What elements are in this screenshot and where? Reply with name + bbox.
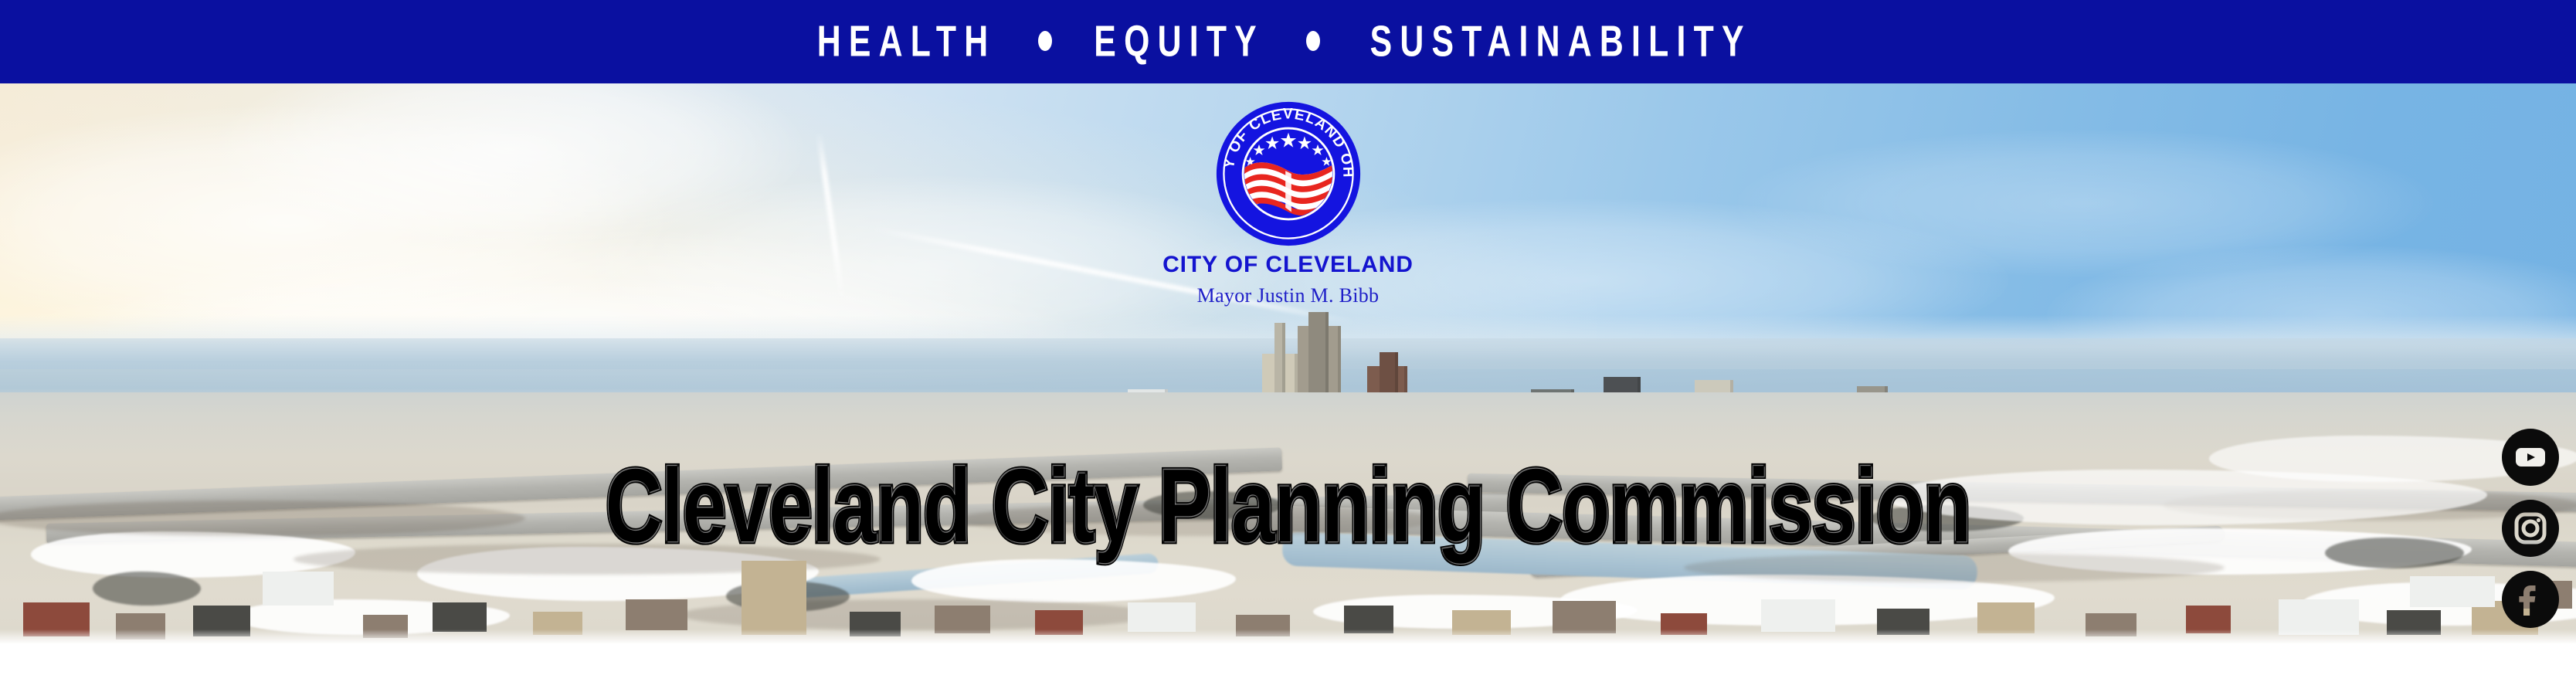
church [742, 561, 806, 635]
bullet-dot-icon [1038, 31, 1052, 51]
building-shadow [93, 572, 201, 606]
rooftop [433, 602, 487, 632]
instagram-icon[interactable] [2502, 500, 2559, 557]
youtube-icon[interactable] [2502, 429, 2559, 486]
bottom-white-strip [0, 643, 2576, 682]
tagline-word-equity: EQUITY [1094, 19, 1264, 63]
page-title: Cleveland City Planning Commission [25, 454, 2550, 558]
page-root: HEALTH EQUITY SUSTAINABILITY [0, 0, 2576, 682]
bullet-dot-icon [1306, 31, 1320, 51]
rooftop [1761, 599, 1835, 632]
tagline-word-health: HEALTH [816, 19, 996, 63]
photo-bottom-edge [0, 629, 2576, 643]
rooftop [263, 572, 334, 606]
snow-field [911, 559, 1236, 602]
tagline-banner: HEALTH EQUITY SUSTAINABILITY [0, 0, 2576, 83]
tagline-inner: HEALTH EQUITY SUSTAINABILITY [810, 23, 1767, 59]
facebook-icon[interactable] [2502, 571, 2559, 628]
rooftop [626, 599, 687, 630]
rooftop [1128, 602, 1196, 632]
social-media-rail [2502, 429, 2559, 628]
rooftop [2410, 576, 2495, 607]
rooftop [1553, 601, 1616, 633]
rooftop [1977, 602, 2035, 633]
tagline-word-sustainability: SUSTAINABILITY [1370, 19, 1752, 63]
